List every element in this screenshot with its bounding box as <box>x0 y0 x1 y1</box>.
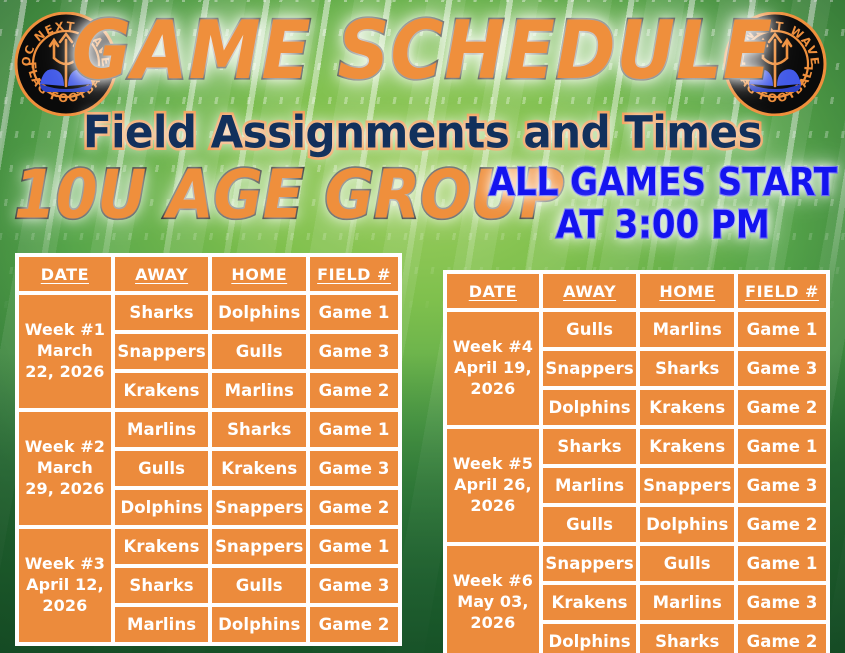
right-schedule-table: DATEAWAYHOMEFIELD #Week #4 April 19, 202… <box>445 272 828 653</box>
table-row: Week #6 May 03, 2026SnappersGullsGame 1 <box>445 544 828 583</box>
field-number-cell: Game 3 <box>736 466 828 505</box>
column-header-home: HOME <box>210 255 308 293</box>
field-number-cell: Game 1 <box>308 527 400 566</box>
field-number-cell: Game 2 <box>736 622 828 653</box>
home-team-cell: Gulls <box>638 544 736 583</box>
home-team-cell: Snappers <box>638 466 736 505</box>
field-number-cell: Game 1 <box>736 544 828 583</box>
column-header-home: HOME <box>638 272 736 310</box>
away-team-cell: Dolphins <box>541 388 639 427</box>
away-team-cell: Gulls <box>113 449 211 488</box>
home-team-cell: Gulls <box>210 566 308 605</box>
home-team-cell: Snappers <box>210 527 308 566</box>
home-team-cell: Snappers <box>210 488 308 527</box>
field-number-cell: Game 2 <box>308 488 400 527</box>
page-subtitle: Field Assignments and Times <box>0 107 845 158</box>
away-team-cell: Sharks <box>113 293 211 332</box>
left-schedule-table: DATEAWAYHOMEFIELD #Week #1 March 22, 202… <box>17 255 400 644</box>
column-header-away: AWAY <box>541 272 639 310</box>
away-team-cell: Marlins <box>541 466 639 505</box>
table-row: Week #1 March 22, 2026SharksDolphinsGame… <box>17 293 400 332</box>
column-header-date: DATE <box>17 255 113 293</box>
field-number-cell: Game 3 <box>736 349 828 388</box>
field-number-cell: Game 1 <box>736 310 828 349</box>
home-team-cell: Dolphins <box>210 293 308 332</box>
week-date-cell: Week #2 March 29, 2026 <box>17 410 113 527</box>
table-row: Week #2 March 29, 2026MarlinsSharksGame … <box>17 410 400 449</box>
column-header-field: FIELD # <box>736 272 828 310</box>
home-team-cell: Sharks <box>638 622 736 653</box>
field-number-cell: Game 3 <box>308 332 400 371</box>
away-team-cell: Krakens <box>113 527 211 566</box>
column-header-away: AWAY <box>113 255 211 293</box>
home-team-cell: Gulls <box>210 332 308 371</box>
field-number-cell: Game 2 <box>308 371 400 410</box>
home-team-cell: Krakens <box>210 449 308 488</box>
start-time-line-1: ALL GAMES START <box>489 161 837 204</box>
age-group-heading: 10U AGE GROUP <box>14 156 564 234</box>
away-team-cell: Sharks <box>113 566 211 605</box>
field-number-cell: Game 1 <box>736 427 828 466</box>
home-team-cell: Marlins <box>638 310 736 349</box>
table-header-row: DATEAWAYHOMEFIELD # <box>445 272 828 310</box>
column-header-date: DATE <box>445 272 541 310</box>
week-date-cell: Week #6 May 03, 2026 <box>445 544 541 653</box>
away-team-cell: Marlins <box>113 605 211 644</box>
away-team-cell: Krakens <box>541 583 639 622</box>
home-team-cell: Krakens <box>638 427 736 466</box>
away-team-cell: Snappers <box>113 332 211 371</box>
table-row: Week #4 April 19, 2026GullsMarlinsGame 1 <box>445 310 828 349</box>
away-team-cell: Dolphins <box>113 488 211 527</box>
field-number-cell: Game 2 <box>736 388 828 427</box>
home-team-cell: Marlins <box>210 371 308 410</box>
away-team-cell: Dolphins <box>541 622 639 653</box>
away-team-cell: Marlins <box>113 410 211 449</box>
field-number-cell: Game 2 <box>308 605 400 644</box>
poster-canvas: OC NEXT WAVE FLAG FOOTBALL <box>0 0 845 653</box>
field-number-cell: Game 2 <box>736 505 828 544</box>
away-team-cell: Krakens <box>113 371 211 410</box>
field-number-cell: Game 3 <box>736 583 828 622</box>
start-time-line-2: AT 3:00 PM <box>489 204 837 247</box>
field-number-cell: Game 1 <box>308 410 400 449</box>
home-team-cell: Sharks <box>638 349 736 388</box>
away-team-cell: Snappers <box>541 544 639 583</box>
week-date-cell: Week #1 March 22, 2026 <box>17 293 113 410</box>
week-date-cell: Week #4 April 19, 2026 <box>445 310 541 427</box>
field-number-cell: Game 3 <box>308 566 400 605</box>
home-team-cell: Marlins <box>638 583 736 622</box>
column-header-field: FIELD # <box>308 255 400 293</box>
table-row: Week #5 April 26, 2026SharksKrakensGame … <box>445 427 828 466</box>
table-row: Week #3 April 12, 2026KrakensSnappersGam… <box>17 527 400 566</box>
away-team-cell: Gulls <box>541 505 639 544</box>
home-team-cell: Dolphins <box>638 505 736 544</box>
week-date-cell: Week #5 April 26, 2026 <box>445 427 541 544</box>
away-team-cell: Gulls <box>541 310 639 349</box>
field-number-cell: Game 1 <box>308 293 400 332</box>
home-team-cell: Sharks <box>210 410 308 449</box>
field-number-cell: Game 3 <box>308 449 400 488</box>
home-team-cell: Dolphins <box>210 605 308 644</box>
page-title: GAME SCHEDULE <box>0 3 845 97</box>
away-team-cell: Snappers <box>541 349 639 388</box>
week-date-cell: Week #3 April 12, 2026 <box>17 527 113 644</box>
home-team-cell: Krakens <box>638 388 736 427</box>
table-header-row: DATEAWAYHOMEFIELD # <box>17 255 400 293</box>
away-team-cell: Sharks <box>541 427 639 466</box>
start-time-notice: ALL GAMES START AT 3:00 PM <box>489 161 837 246</box>
